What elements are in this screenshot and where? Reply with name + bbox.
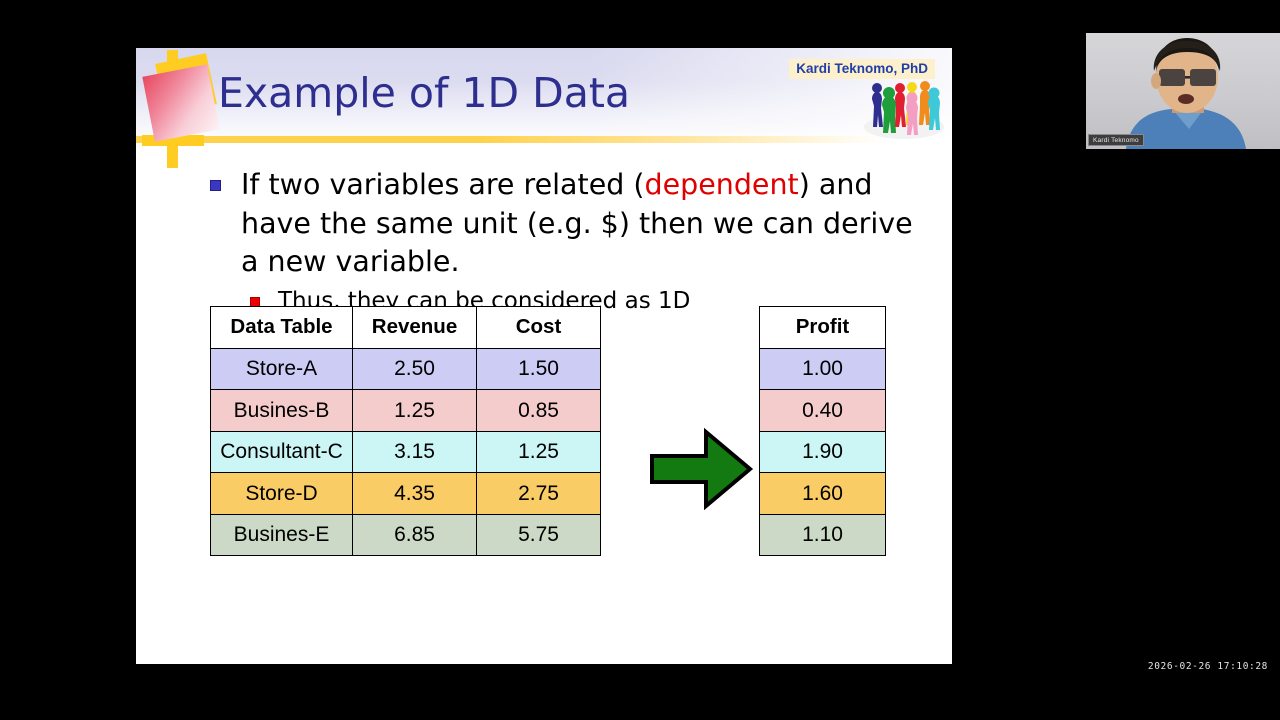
profit-row: 1.60 (760, 473, 886, 515)
slide-header-rule (136, 136, 952, 143)
bullet-keyword-dependent: dependent (645, 168, 799, 201)
table-cell-revenue: 6.85 (353, 514, 477, 556)
profit-cell-value: 1.10 (760, 514, 886, 556)
table-cell-revenue: 4.35 (353, 473, 477, 515)
table-row: Busines-E6.855.75 (211, 514, 601, 556)
profit-row: 1.10 (760, 514, 886, 556)
webcam-participant-name: Kardi Teknomo (1088, 134, 1144, 146)
table-row: Consultant-C3.151.25 (211, 431, 601, 473)
decoration-pink-square (142, 64, 219, 141)
table-row: Busines-B1.250.85 (211, 390, 601, 432)
profit-row: 1.00 (760, 348, 886, 390)
webcam-video-feed[interactable] (1086, 33, 1280, 149)
table-cell-label: Store-A (211, 348, 353, 390)
profit-header-row: Profit (760, 307, 886, 349)
profit-cell-value: 0.40 (760, 390, 886, 432)
table-cell-label: Busines-B (211, 390, 353, 432)
screen-recording-canvas: Example of 1D Data Kardi Teknomo, PhD If… (0, 0, 1280, 720)
recording-timestamp: 2026-02-26 17:10:28 (1148, 661, 1268, 672)
bullet-text-part1: If two variables are related ( (241, 168, 645, 201)
table-cell-cost: 2.75 (477, 473, 601, 515)
table-cell-revenue: 1.25 (353, 390, 477, 432)
profit-row: 0.40 (760, 390, 886, 432)
table-cell-cost: 1.25 (477, 431, 601, 473)
column-header-data-table: Data Table (211, 307, 353, 349)
table-cell-label: Consultant-C (211, 431, 353, 473)
column-header-revenue: Revenue (353, 307, 477, 349)
profit-row: 1.90 (760, 431, 886, 473)
arrow-right-icon (648, 426, 754, 512)
table-cell-label: Store-D (211, 473, 353, 515)
bullet-level-1-text: If two variables are related (dependent)… (241, 166, 920, 282)
table-cell-cost: 1.50 (477, 348, 601, 390)
table-cell-revenue: 2.50 (353, 348, 477, 390)
column-header-profit: Profit (760, 307, 886, 349)
bullet-level-1: If two variables are related (dependent)… (210, 166, 920, 282)
table-row: Store-D4.352.75 (211, 473, 601, 515)
table-cell-cost: 5.75 (477, 514, 601, 556)
column-header-cost: Cost (477, 307, 601, 349)
slide-title: Example of 1D Data (218, 69, 630, 117)
bullet-square-blue-icon (210, 180, 221, 191)
table-cell-revenue: 3.15 (353, 431, 477, 473)
profit-cell-value: 1.90 (760, 431, 886, 473)
profit-cell-value: 1.00 (760, 348, 886, 390)
data-table: Data Table Revenue Cost Store-A2.501.50B… (210, 306, 601, 556)
profit-table: Profit 1.000.401.901.601.10 (759, 306, 886, 556)
webcam-person-figure (1086, 33, 1280, 149)
people-group-icon (862, 75, 946, 141)
presentation-slide: Example of 1D Data Kardi Teknomo, PhD If… (136, 48, 952, 664)
table-header-row: Data Table Revenue Cost (211, 307, 601, 349)
table-cell-cost: 0.85 (477, 390, 601, 432)
table-cell-label: Busines-E (211, 514, 353, 556)
table-row: Store-A2.501.50 (211, 348, 601, 390)
profit-cell-value: 1.60 (760, 473, 886, 515)
